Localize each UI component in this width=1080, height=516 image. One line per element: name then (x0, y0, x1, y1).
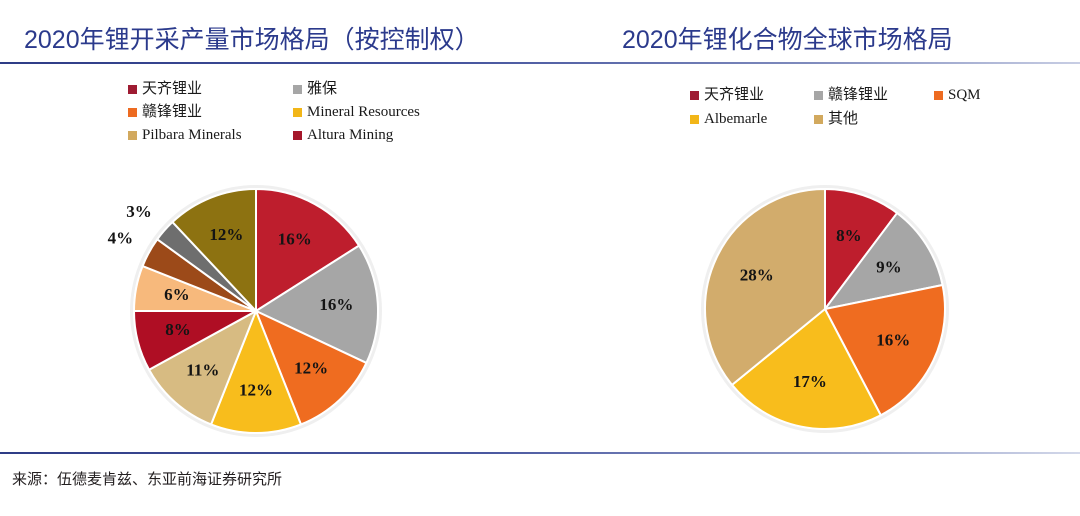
legend-item-albemarle[interactable]: Albemarle (690, 112, 814, 127)
legend-swatch-icon (690, 115, 699, 124)
pie-chart-mining-share-svg: 16%16%12%12%11%8%6%4%3%12% (131, 186, 381, 436)
legend-row: 赣锋锂业 Mineral Resources (128, 105, 420, 120)
legend-item-pilbara[interactable]: Pilbara Minerals (128, 128, 293, 143)
legend-swatch-icon (814, 91, 823, 100)
pie-slice-label: 16% (319, 295, 353, 314)
legend-item-label: 其他 (828, 112, 858, 127)
pie-slice-label: 16% (876, 330, 910, 349)
legend-swatch-icon (128, 131, 137, 140)
page-title-left: 2020年锂开采产量市场格局（按控制权） (24, 20, 480, 56)
pie-slice-label: 12% (209, 225, 243, 244)
legend-item-mineral-resources[interactable]: Mineral Resources (293, 105, 420, 120)
pie-slice-label: 12% (239, 380, 273, 399)
pie-slice-label: 11% (186, 360, 219, 379)
pie-chart-compounds-share-svg: 8%9%16%17%28% (702, 186, 948, 432)
legend-swatch-icon (293, 85, 302, 94)
pie-slice-label: 17% (793, 372, 827, 391)
legend-item-other[interactable]: 其他 (814, 112, 858, 127)
legend-left-chart: 天齐锂业 雅保 赣锋锂业 Mineral Resources Pilbara M… (128, 82, 420, 151)
legend-item-altura[interactable]: Altura Mining (293, 128, 393, 143)
legend-item-label: 赣锋锂业 (142, 105, 202, 120)
legend-item-label: 天齐锂业 (704, 88, 764, 103)
pie-slice-label: 4% (108, 229, 134, 248)
legend-item-tianqi[interactable]: 天齐锂业 (690, 88, 814, 103)
footer-divider (0, 452, 1080, 454)
titles-bar: 2020年锂开采产量市场格局（按控制权） 2020年锂化合物全球市场格局 (0, 0, 1080, 62)
pie-slice-label: 8% (836, 226, 862, 245)
pie-slice-label: 28% (740, 266, 774, 285)
legend-item-label: Altura Mining (307, 128, 393, 143)
legend-item-label: Mineral Resources (307, 105, 420, 120)
pie-chart-mining-share[interactable]: 16%16%12%12%11%8%6%4%3%12% (131, 186, 381, 436)
legend-item-label: 天齐锂业 (142, 82, 202, 97)
title-divider (0, 62, 1080, 64)
pie-slice-label: 16% (278, 229, 312, 248)
legend-swatch-icon (690, 91, 699, 100)
pie-slice-label: 3% (126, 202, 152, 221)
legend-row: 天齐锂业 雅保 (128, 82, 420, 97)
legend-item-label: Albemarle (704, 112, 767, 127)
source-note: 来源：伍德麦肯兹、东亚前海证券研究所 (12, 468, 282, 489)
pie-slice-label: 6% (164, 285, 190, 304)
legend-item-ganfeng[interactable]: 赣锋锂业 (814, 88, 934, 103)
legend-right-chart: 天齐锂业 赣锋锂业 SQM Albemarle 其他 (690, 88, 981, 136)
legend-swatch-icon (128, 108, 137, 117)
legend-item-label: Pilbara Minerals (142, 128, 242, 143)
page-title-right: 2020年锂化合物全球市场格局 (622, 20, 953, 56)
legend-row: Albemarle 其他 (690, 112, 981, 127)
legend-swatch-icon (128, 85, 137, 94)
pie-slice-label: 12% (294, 359, 328, 378)
legend-item-ganfeng[interactable]: 赣锋锂业 (128, 105, 293, 120)
legend-item-albemarle-cn[interactable]: 雅保 (293, 82, 337, 97)
legend-row: 天齐锂业 赣锋锂业 SQM (690, 88, 981, 103)
legend-item-tianqi[interactable]: 天齐锂业 (128, 82, 293, 97)
slide-canvas: 2020年锂开采产量市场格局（按控制权） 2020年锂化合物全球市场格局 天齐锂… (0, 0, 1080, 516)
legend-item-sqm[interactable]: SQM (934, 88, 981, 103)
legend-swatch-icon (814, 115, 823, 124)
pie-slice-label: 8% (165, 320, 191, 339)
legend-item-label: SQM (948, 88, 981, 103)
pie-slice-label: 9% (876, 258, 902, 277)
legend-row: Pilbara Minerals Altura Mining (128, 128, 420, 143)
legend-swatch-icon (293, 131, 302, 140)
legend-item-label: 赣锋锂业 (828, 88, 888, 103)
legend-item-label: 雅保 (307, 82, 337, 97)
pie-chart-compounds-share[interactable]: 8%9%16%17%28% (702, 186, 948, 432)
legend-swatch-icon (293, 108, 302, 117)
legend-swatch-icon (934, 91, 943, 100)
